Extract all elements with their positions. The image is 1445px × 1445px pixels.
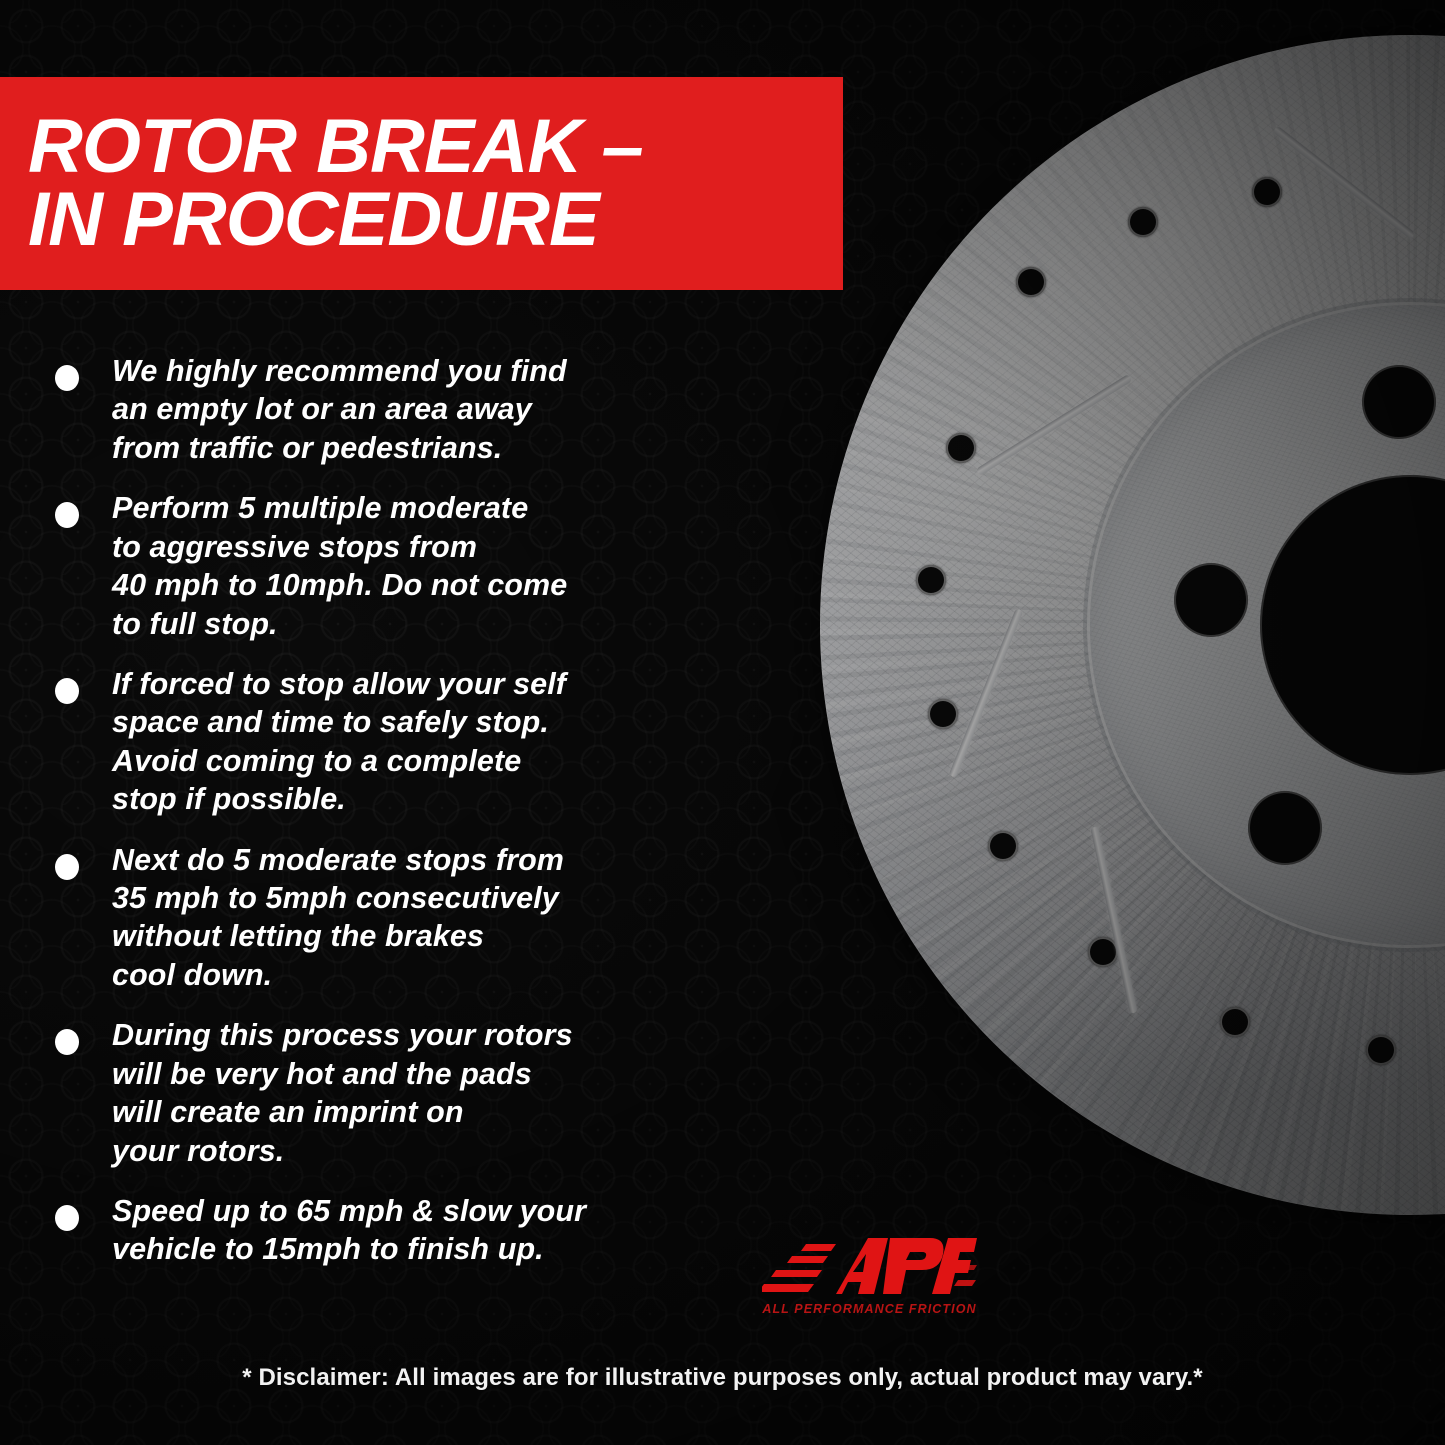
list-item-text: Next do 5 moderate stops from 35 mph to …: [112, 841, 770, 995]
list-item-text: During this process your rotors will be …: [112, 1016, 770, 1170]
list-item: If forced to stop allow your self space …: [0, 665, 770, 819]
bullet-dot-icon: [55, 1205, 79, 1231]
list-item-text: Perform 5 multiple moderate to aggressiv…: [112, 489, 770, 643]
list-item: During this process your rotors will be …: [0, 1016, 770, 1170]
disclaimer-text: * Disclaimer: All images are for illustr…: [0, 1364, 1445, 1392]
bullet-dot-icon: [55, 1029, 79, 1055]
list-item: Speed up to 65 mph & slow your vehicle t…: [0, 1192, 770, 1269]
poster-canvas: ROTOR BREAK – IN PROCEDURE We highly rec…: [0, 0, 1445, 1445]
list-item: We highly recommend you find an empty lo…: [0, 352, 770, 467]
apf-logo: ALL PERFORMANCE FRICTION: [762, 1232, 977, 1332]
apf-tagline: ALL PERFORMANCE FRICTION: [762, 1302, 977, 1316]
bullet-dot-icon: [55, 502, 79, 528]
list-item: Perform 5 multiple moderate to aggressiv…: [0, 489, 770, 643]
bullet-dot-icon: [55, 678, 79, 704]
bullet-dot-icon: [55, 854, 79, 880]
headline-banner: ROTOR BREAK – IN PROCEDURE: [0, 77, 843, 290]
page-title: ROTOR BREAK – IN PROCEDURE: [0, 111, 643, 255]
list-item-text: If forced to stop allow your self space …: [112, 665, 770, 819]
procedure-steps-list: We highly recommend you find an empty lo…: [0, 352, 770, 1291]
list-item-text: Speed up to 65 mph & slow your vehicle t…: [112, 1192, 770, 1269]
list-item-text: We highly recommend you find an empty lo…: [112, 352, 770, 467]
apf-wordmark-icon: [762, 1232, 977, 1304]
bullet-dot-icon: [55, 365, 79, 391]
list-item: Next do 5 moderate stops from 35 mph to …: [0, 841, 770, 995]
